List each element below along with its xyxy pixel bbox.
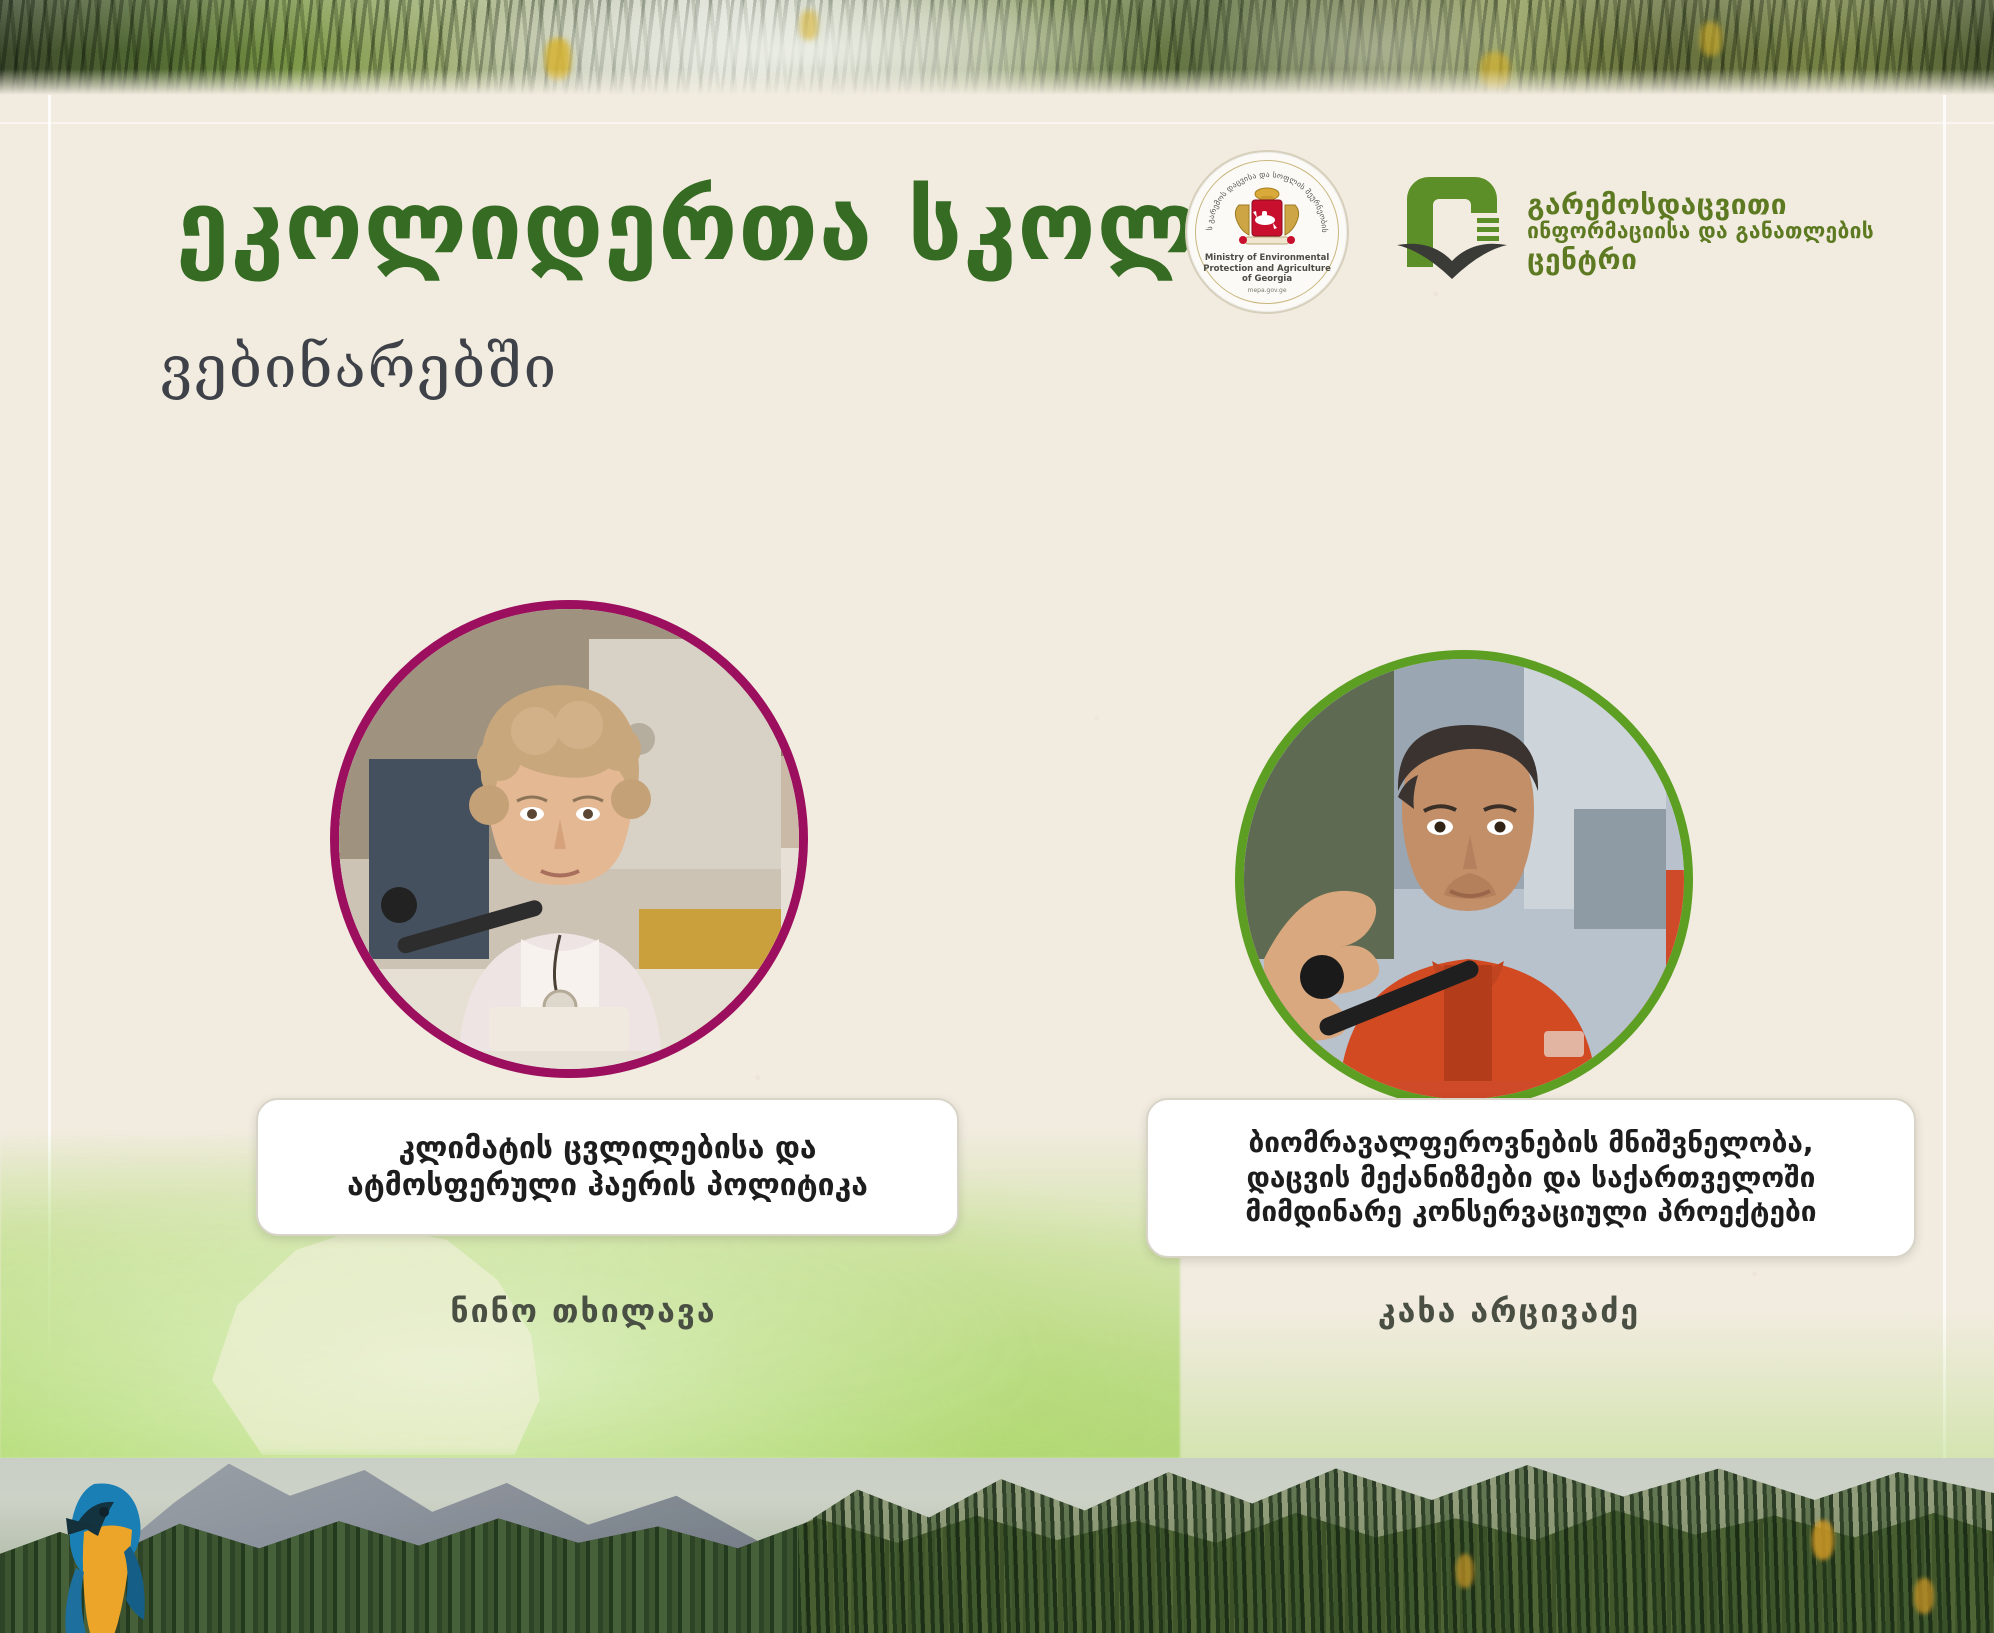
speaker-left-topic-card: კლიმატის ცვლილებისა და ატმოსფერული ჰაერი… xyxy=(256,1098,959,1236)
speaker-left-photo-ring xyxy=(330,600,808,1078)
ministry-seal-url: mepa.gov.ge xyxy=(1196,287,1338,294)
logo-row: საქართველოს გარემოს დაცვისა და სოფლის მე… xyxy=(1185,150,1874,314)
speaker-right-topic-line: მიმდინარე კონსერვაციული პროექტები xyxy=(1168,1195,1894,1230)
speaker-left-photo xyxy=(339,609,799,1069)
speaker-right-topic-line: დაცვის მექანიზმები და საქართველოში xyxy=(1168,1161,1894,1196)
autumn-foliage-accent xyxy=(1456,1554,1474,1588)
speaker-right-photo xyxy=(1244,659,1684,1099)
speaker-right-photo-ring xyxy=(1235,650,1693,1108)
page-subtitle: ვებინარებში xyxy=(160,338,558,396)
eiec-logo-mark-icon xyxy=(1393,173,1511,291)
speaker-left-topic-line: კლიმატის ცვლილებისა და xyxy=(280,1130,935,1167)
ministry-seal-english-text: Ministry of Environmental Protection and… xyxy=(1196,253,1338,285)
ministry-seal-logo: საქართველოს გარემოს დაცვისა და სოფლის მე… xyxy=(1185,150,1349,314)
eiec-line3: ცენტრი xyxy=(1527,244,1874,275)
speaker-right-portrait xyxy=(1235,650,1675,1108)
kingfisher-bird-icon xyxy=(42,1476,192,1633)
poster-canvas: ეკოლიდერთა სკოლა ვებინარებში xyxy=(0,0,1994,1633)
page-title: ეკოლიდერთა სკოლა xyxy=(176,178,1255,274)
top-banner-image xyxy=(0,0,1994,95)
bottom-banner-image xyxy=(0,1458,1994,1633)
eiec-line2: ინფორმაციისა და განათლების xyxy=(1527,220,1874,244)
autumn-foliage-accent xyxy=(1914,1578,1934,1614)
autumn-leaf-accent xyxy=(800,10,818,40)
speaker-left-name: ნინო თხილავა xyxy=(256,1292,911,1330)
frame-line-right xyxy=(1943,95,1946,1458)
eiec-line1: გარემოსდაცვითი xyxy=(1527,189,1874,220)
ministry-seal-line3: of Georgia xyxy=(1196,274,1338,285)
speaker-right-topic-card: ბიომრავალფეროვნების მნიშვნელობა, დაცვის … xyxy=(1146,1098,1916,1258)
autumn-foliage-accent xyxy=(1812,1520,1834,1560)
top-banner-fade xyxy=(0,69,1994,95)
autumn-leaf-accent xyxy=(1700,22,1722,56)
eiec-logo: გარემოსდაცვითი ინფორმაციისა და განათლები… xyxy=(1393,173,1874,291)
ministry-seal-line2: Protection and Agriculture xyxy=(1196,264,1338,275)
speaker-left-topic-line: ატმოსფერული ჰაერის პოლიტიკა xyxy=(280,1167,935,1204)
frame-line-horizontal xyxy=(0,122,1994,124)
speaker-right-topic-line: ბიომრავალფეროვნების მნიშვნელობა, xyxy=(1168,1126,1894,1161)
ministry-seal-line1: Ministry of Environmental xyxy=(1196,253,1338,264)
eiec-logo-text: გარემოსდაცვითი ინფორმაციისა და განათლები… xyxy=(1527,189,1874,275)
svg-text:საქართველოს გარემოს დაცვისა და: საქართველოს გარემოს დაცვისა და სოფლის მე… xyxy=(1196,161,1329,233)
ministry-seal-inner: საქართველოს გარემოს დაცვისა და სოფლის მე… xyxy=(1195,160,1339,304)
speaker-right-name: კახა არცივაძე xyxy=(1146,1292,1872,1330)
speaker-left-portrait xyxy=(330,600,790,1078)
